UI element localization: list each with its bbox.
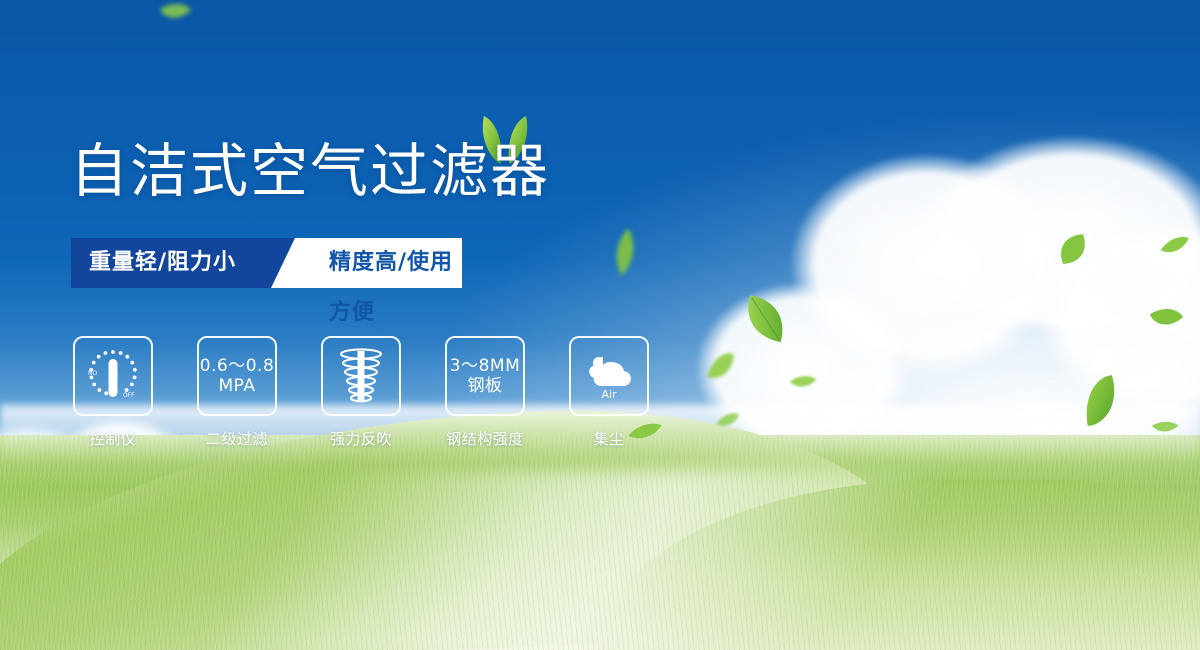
- grass-texture: [0, 435, 1200, 650]
- floating-leaf-icon: [715, 410, 741, 429]
- product-banner: 自洁式空气过滤器 重量轻/阻力小 精度高/使用方便: [0, 0, 1200, 650]
- floating-leaf-icon: [627, 420, 663, 441]
- gauge-dial-icon: NO OFF: [82, 345, 144, 407]
- page-title: 自洁式空气过滤器: [70, 142, 550, 200]
- feature-icon-box: [321, 336, 401, 416]
- svg-text:Air: Air: [601, 388, 617, 401]
- subtitle-left-text: 重量轻/阻力小: [89, 238, 236, 288]
- subtitle-right-text: 精度高/使用方便: [329, 238, 462, 288]
- svg-text:NO: NO: [88, 370, 97, 377]
- feature-item[interactable]: 强力反吹: [319, 336, 403, 449]
- pressure-text-icon: 0.6～0.8MPA: [200, 356, 275, 396]
- feature-icon-box: 0.6～0.8MPA: [197, 336, 277, 416]
- feature-item[interactable]: 3～8MM钢板 钢结构强度: [443, 336, 527, 449]
- feature-label: 钢结构强度: [446, 428, 524, 449]
- svg-text:OFF: OFF: [123, 392, 135, 399]
- feature-icon-box: NO OFF: [73, 336, 153, 416]
- feature-icon-box: Air: [569, 336, 649, 416]
- feature-label: 集尘: [593, 428, 624, 449]
- steel-plate-text-icon: 3～8MM钢板: [450, 356, 520, 396]
- feature-item[interactable]: 0.6～0.8MPA 二级过滤: [195, 336, 279, 449]
- subtitle-bar: 重量轻/阻力小 精度高/使用方便: [71, 238, 462, 288]
- floating-leaf-icon: [789, 373, 817, 392]
- feature-icon-box: 3～8MM钢板: [445, 336, 525, 416]
- coil-spring-icon: [333, 345, 389, 407]
- cloud-air-icon: Air: [577, 345, 641, 407]
- feature-list: NO OFF 控制仪 0.6～0.8MPA 二级过滤: [71, 336, 651, 449]
- feature-item[interactable]: NO OFF 控制仪: [71, 336, 155, 449]
- feature-label: 控制仪: [90, 428, 137, 449]
- feature-label: 二级过滤: [206, 428, 268, 449]
- feature-label: 强力反吹: [330, 428, 392, 449]
